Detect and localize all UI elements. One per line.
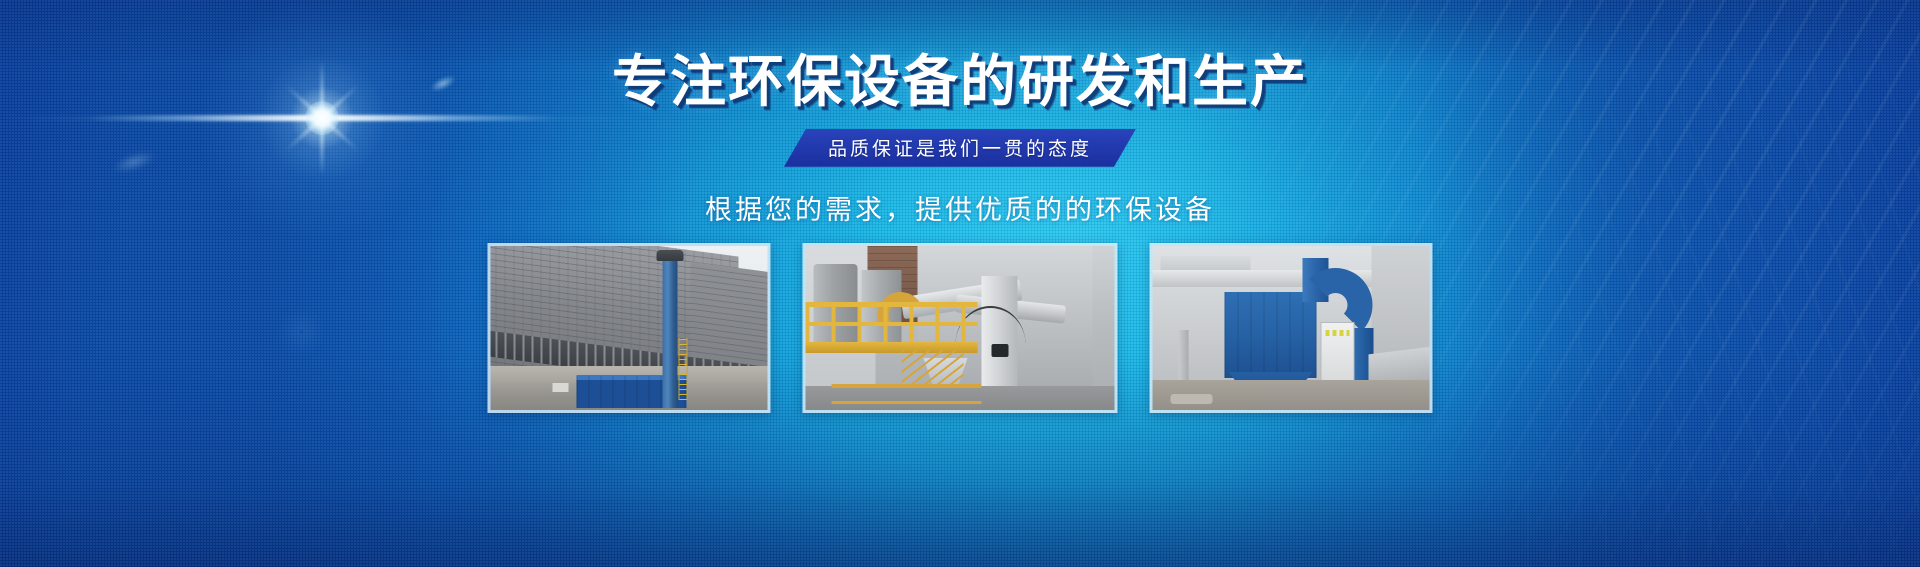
floor-debris <box>1171 394 1213 404</box>
railing-top-bar <box>806 302 978 307</box>
hero-banner: 专注环保设备的研发和生产 品质保证是我们一贯的态度 根据您的需求，提供优质的的环… <box>0 0 1920 567</box>
quality-badge-label: 品质保证是我们一贯的态度 <box>828 134 1092 161</box>
banner-headline: 专注环保设备的研发和生产 <box>612 53 1308 112</box>
photo-platform-image <box>806 246 1115 410</box>
yellow-ladder <box>679 338 688 400</box>
photo-strip <box>488 243 1433 413</box>
photo-card-platform <box>803 243 1118 413</box>
lower-railing <box>832 384 982 404</box>
exhaust-stack-cap <box>657 250 684 261</box>
exhaust-stack <box>663 258 678 408</box>
photo-collector-image <box>1153 246 1430 410</box>
banner-subtitle: 根据您的需求，提供优质的的环保设备 <box>705 188 1215 227</box>
quality-badge: 品质保证是我们一贯的态度 <box>784 129 1136 167</box>
photo-card-collector <box>1150 243 1433 413</box>
railing-mid-bar <box>806 322 978 326</box>
ground-object <box>553 383 569 392</box>
photo-card-warehouse <box>488 243 771 413</box>
wall-lamp <box>992 344 1009 357</box>
banner-badge-row: 品质保证是我们一贯的态度 <box>784 129 1136 167</box>
control-cabinet-indicators <box>1326 330 1350 336</box>
photo-warehouse-image <box>491 246 768 410</box>
